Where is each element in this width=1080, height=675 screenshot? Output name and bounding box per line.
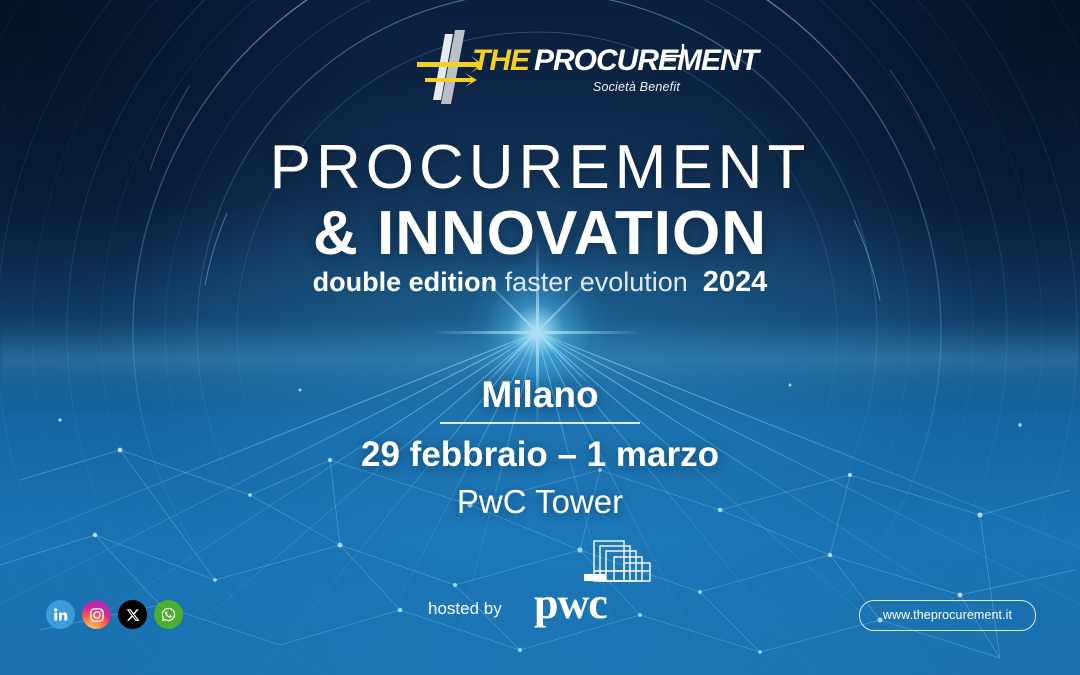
event-venue: PwC Tower — [0, 485, 1080, 518]
website-url-text: www.theprocurement.it — [883, 609, 1012, 622]
subtitle-light: faster evolution — [505, 267, 688, 297]
logo-tagline: Società Benefit — [575, 80, 680, 94]
website-url-button[interactable]: www.theprocurement.it — [859, 600, 1036, 631]
social-links — [46, 600, 183, 629]
hosted-by-label: hosted by — [428, 600, 502, 617]
instagram-icon[interactable] — [82, 600, 111, 629]
event-dates: 29 febbraio – 1 marzo — [0, 437, 1080, 472]
linkedin-icon[interactable] — [46, 600, 75, 629]
headline-line-2: & INNOVATION — [0, 203, 1080, 265]
event-poster: THE PROCUREMENT Società Benefit PROCUREM… — [0, 0, 1080, 675]
subtitle-year: 2024 — [703, 266, 768, 298]
pwc-building-blocks-icon — [584, 538, 659, 584]
pwc-wordmark: pwc — [534, 582, 607, 626]
headline-line-1: PROCUREMENT — [0, 137, 1080, 199]
logo-word-procurement: PROCUREMENT — [534, 46, 758, 76]
subtitle-bold: double edition — [313, 267, 497, 297]
logo-word-the: THE — [472, 46, 529, 76]
x-twitter-icon[interactable] — [118, 600, 147, 629]
event-city: Milano — [0, 376, 1080, 413]
headline-subtitle: double edition faster evolution 2024 — [0, 268, 1080, 297]
whatsapp-icon[interactable] — [154, 600, 183, 629]
divider-rule — [440, 422, 640, 424]
brand-logo[interactable]: THE PROCUREMENT Società Benefit — [415, 28, 680, 106]
logo-swoosh-icon — [663, 42, 685, 58]
pwc-logo[interactable]: pwc — [534, 540, 659, 620]
